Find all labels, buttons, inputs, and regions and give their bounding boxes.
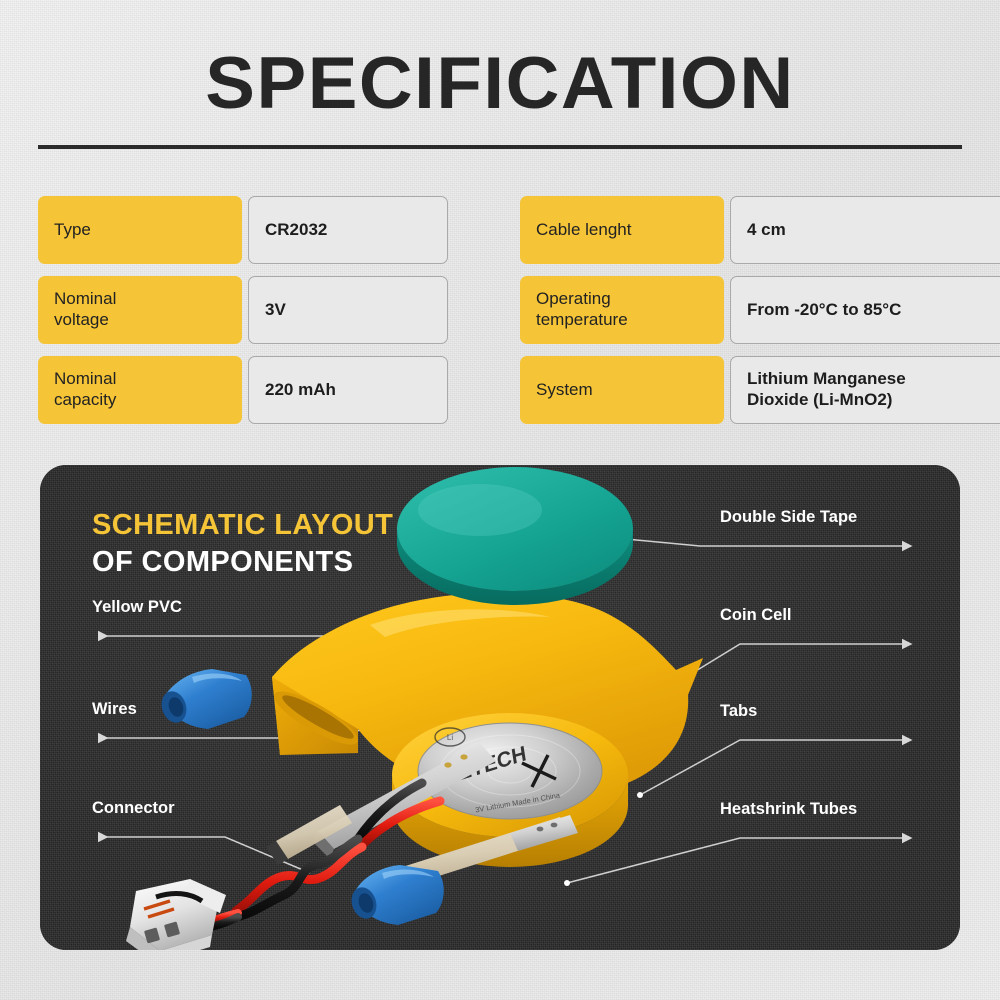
- spec-label-nominal-capacity-line1: Nominal: [54, 369, 116, 388]
- callout-wires: Wires: [92, 700, 137, 719]
- spec-row-type: Type CR2032: [38, 196, 480, 264]
- spec-value-cable-length: 4 cm: [730, 196, 1000, 264]
- spec-label-nominal-voltage-line2: voltage: [54, 310, 109, 329]
- spec-row-nominal-capacity: Nominal capacity 220 mAh: [38, 356, 480, 424]
- callout-yellow-pvc: Yellow PVC: [92, 598, 182, 617]
- spec-value-system-line1: Lithium Manganese: [747, 369, 906, 388]
- leader-line-tabs: [640, 740, 902, 795]
- double-side-tape-part: [397, 467, 633, 605]
- spec-label-operating-temperature-line1: Operating: [536, 289, 611, 308]
- callout-connector: Connector: [92, 799, 175, 818]
- spec-value-system-line2: Dioxide (Li-MnO2): [747, 390, 892, 409]
- callout-tabs: Tabs: [720, 702, 757, 721]
- spec-row-system: System Lithium Manganese Dioxide (Li-MnO…: [520, 356, 962, 424]
- spec-value-nominal-voltage: 3V: [248, 276, 448, 344]
- page-title: SPECIFICATION: [0, 47, 1000, 120]
- leader-line-double-side-tape: [605, 537, 902, 546]
- spec-label-system: System: [520, 356, 724, 424]
- spec-label-nominal-voltage: Nominal voltage: [38, 276, 242, 344]
- spec-value-operating-temperature: From -20°C to 85°C: [730, 276, 1000, 344]
- spec-label-operating-temperature-line2: temperature: [536, 310, 628, 329]
- spec-label-nominal-capacity-line2: capacity: [54, 390, 116, 409]
- spec-value-nominal-capacity: 220 mAh: [248, 356, 448, 424]
- callout-heatshrink-tubes: Heatshrink Tubes: [720, 800, 857, 819]
- spec-label-nominal-capacity: Nominal capacity: [38, 356, 242, 424]
- callout-double-side-tape: Double Side Tape: [720, 508, 857, 527]
- spec-value-system: Lithium Manganese Dioxide (Li-MnO2): [730, 356, 1000, 424]
- exploded-view-illustration: ROMETECH 3V Lithium Made in China Li: [40, 465, 960, 950]
- spec-label-type: Type: [38, 196, 242, 264]
- spec-row-nominal-voltage: Nominal voltage 3V: [38, 276, 480, 344]
- specification-sheet: SPECIFICATION Type CR2032 Cable lenght 4…: [0, 0, 1000, 1000]
- svg-text:Li: Li: [447, 733, 453, 742]
- heatshrink-tube-upper-part: [158, 669, 252, 729]
- tape-highlight: [418, 484, 542, 536]
- callout-coin-cell: Coin Cell: [720, 606, 792, 625]
- spec-row-cable-length: Cable lenght 4 cm: [520, 196, 962, 264]
- spec-label-nominal-voltage-line1: Nominal: [54, 289, 116, 308]
- heatshrink-tube-lower-part: [348, 865, 444, 925]
- leader-line-heatshrink-tubes: [567, 838, 902, 883]
- schematic-panel: SCHEMATIC LAYOUT OF COMPONENTS: [40, 465, 960, 950]
- specification-table: Type CR2032 Cable lenght 4 cm Nominal vo…: [38, 196, 962, 424]
- spec-label-cable-length: Cable lenght: [520, 196, 724, 264]
- title-divider: [38, 145, 962, 149]
- spec-value-type: CR2032: [248, 196, 448, 264]
- spec-row-operating-temperature: Operating temperature From -20°C to 85°C: [520, 276, 962, 344]
- spec-label-operating-temperature: Operating temperature: [520, 276, 724, 344]
- connector-part: [126, 879, 226, 950]
